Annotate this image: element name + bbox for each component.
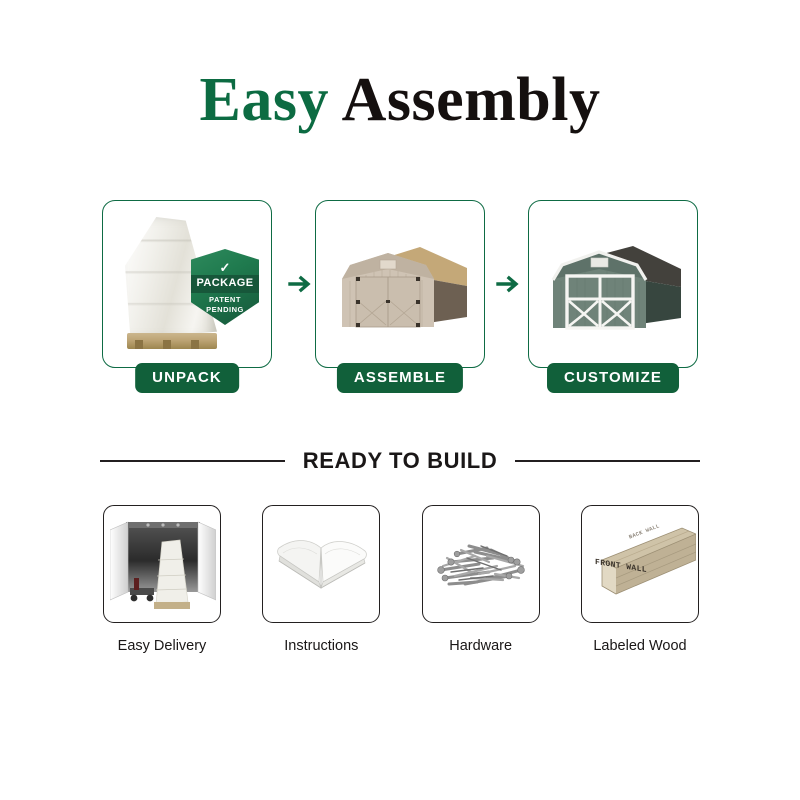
wrapped-pallet-icon: ✓ PACKAGE PATENT PENDING: [103, 201, 271, 367]
feature-labeled-wood-card: FRONT WALL BACK WALL: [581, 505, 699, 623]
steps-row: ✓ PACKAGE PATENT PENDING UNPACK: [102, 200, 698, 405]
badge-title: PACKAGE: [191, 275, 259, 293]
open-book-icon: [273, 528, 371, 602]
feature-labeled-wood[interactable]: FRONT WALL BACK WALL Labeled Wood: [581, 505, 699, 654]
feature-hardware-card: [422, 505, 540, 623]
step-customize-card: [528, 200, 698, 368]
feature-label-instructions: Instructions: [262, 639, 380, 654]
feature-instructions-card: [262, 505, 380, 623]
nails-pile-icon: [431, 532, 533, 596]
easy-assembly-infographic: Easy Assembly ✓ PACKAGE PATEN: [0, 0, 800, 800]
title-word-easy: Easy: [200, 66, 329, 134]
ready-to-build-divider: READY TO BUILD: [100, 448, 700, 474]
step-label-assemble: ASSEMBLE: [337, 363, 463, 393]
section-title-ready-to-build: READY TO BUILD: [303, 448, 498, 474]
delivery-truck-icon: [110, 516, 216, 614]
package-patent-pending-badge: ✓ PACKAGE PATENT PENDING: [191, 249, 259, 325]
step-unpack[interactable]: ✓ PACKAGE PATENT PENDING UNPACK: [102, 200, 272, 405]
feature-label-labeled-wood: Labeled Wood: [581, 639, 699, 654]
badge-subtitle: PATENT PENDING: [191, 295, 259, 315]
step-unpack-card: ✓ PACKAGE PATENT PENDING: [102, 200, 272, 368]
step-customize[interactable]: CUSTOMIZE: [528, 200, 698, 405]
features-row: Easy Delivery: [103, 505, 699, 654]
arrow-right-icon-1: [287, 270, 315, 298]
finished-shed-icon: [541, 239, 687, 339]
divider-rule-right: [515, 460, 700, 462]
divider-rule-left: [100, 460, 285, 462]
step-assemble[interactable]: ASSEMBLE: [315, 200, 485, 405]
feature-easy-delivery-card: [103, 505, 221, 623]
feature-easy-delivery[interactable]: Easy Delivery: [103, 505, 221, 654]
step-label-customize: CUSTOMIZE: [547, 363, 679, 393]
feature-label-hardware: Hardware: [422, 639, 540, 654]
unfinished-shed-icon: [328, 239, 474, 339]
feature-label-easy-delivery: Easy Delivery: [103, 639, 221, 654]
badge-subtitle-line2: PENDING: [191, 305, 259, 315]
feature-hardware[interactable]: Hardware: [422, 505, 540, 654]
arrow-right-icon-2: [495, 270, 523, 298]
page-title: Easy Assembly: [0, 68, 800, 133]
check-icon: ✓: [191, 261, 259, 274]
step-label-unpack: UNPACK: [135, 363, 239, 393]
badge-subtitle-line1: PATENT: [191, 295, 259, 305]
step-assemble-card: [315, 200, 485, 368]
title-word-assembly: Assembly: [342, 66, 601, 134]
feature-instructions[interactable]: Instructions: [262, 505, 380, 654]
